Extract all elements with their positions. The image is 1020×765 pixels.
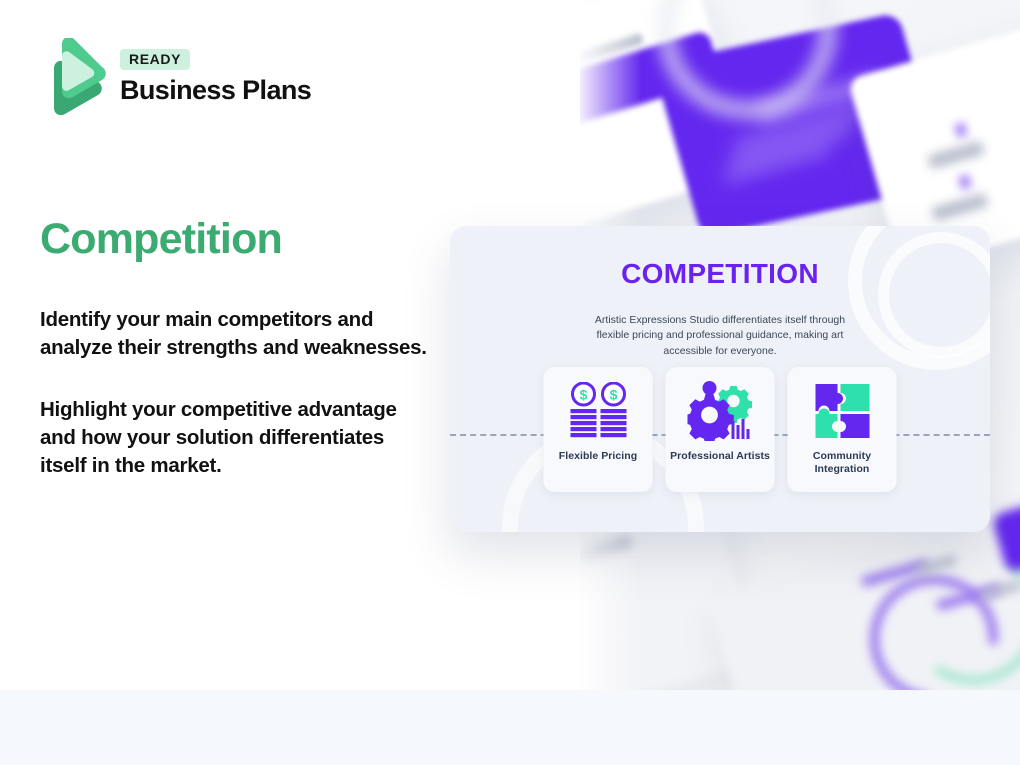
body-paragraph-1: Identify your main competitors and analy… bbox=[40, 306, 432, 363]
feature-tile-label: Professional Artists bbox=[670, 450, 770, 463]
bottom-strip bbox=[0, 690, 1020, 765]
slide-preview-card[interactable]: COMPETITION Artistic Expressions Studio … bbox=[450, 226, 990, 532]
puzzle-pieces-icon bbox=[811, 380, 873, 442]
feature-tile-professional-artists[interactable]: Professional Artists bbox=[666, 367, 775, 492]
slide-title: COMPETITION bbox=[450, 258, 990, 290]
feature-tile-community-integration[interactable]: Community Integration bbox=[788, 367, 897, 492]
feature-tile-label: Community Integration bbox=[788, 450, 897, 477]
slide-page: READY Business Plans Competition Identif… bbox=[0, 0, 1020, 765]
gears-lightbulb-chart-icon bbox=[687, 380, 753, 442]
page-title: Competition bbox=[40, 216, 282, 263]
coin-stacks-icon: $ $ bbox=[566, 380, 630, 442]
body-copy: Identify your main competitors and analy… bbox=[40, 306, 432, 480]
body-paragraph-2: Highlight your competitive advantage and… bbox=[40, 396, 432, 481]
brand-name: Business Plans bbox=[120, 76, 311, 106]
feature-tiles: $ $ bbox=[544, 367, 897, 492]
play-triangle-logo-icon bbox=[40, 38, 106, 116]
brand-logo-text: READY Business Plans bbox=[120, 49, 311, 106]
svg-text:$: $ bbox=[609, 387, 617, 403]
feature-tile-flexible-pricing[interactable]: $ $ bbox=[544, 367, 653, 492]
feature-tile-label: Flexible Pricing bbox=[559, 450, 637, 463]
brand-logo: READY Business Plans bbox=[40, 38, 311, 116]
svg-text:$: $ bbox=[579, 387, 587, 403]
slide-description: Artistic Expressions Studio differentiat… bbox=[590, 313, 850, 360]
ready-badge: READY bbox=[120, 49, 190, 70]
